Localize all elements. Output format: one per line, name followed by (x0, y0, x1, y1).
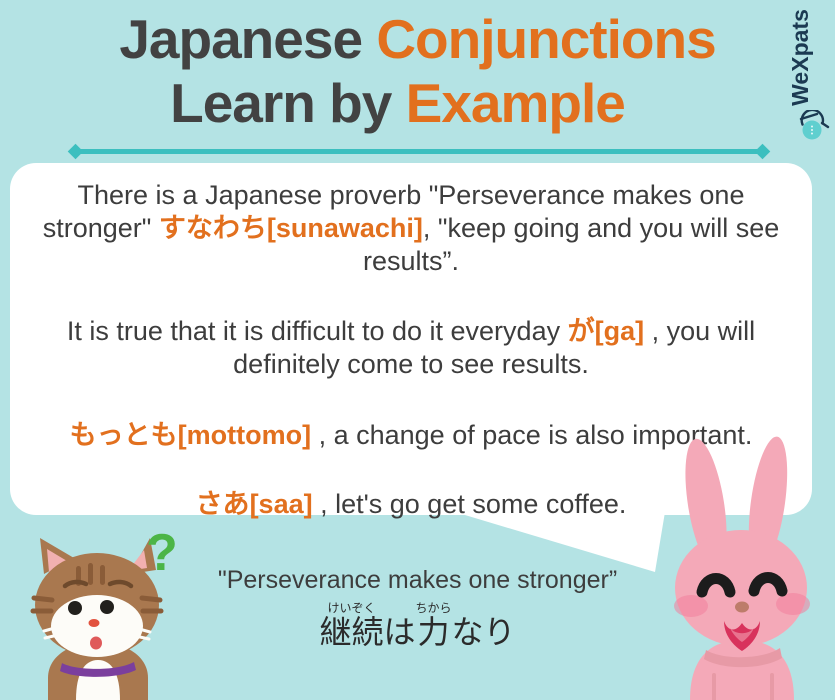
conjunction-ga-romaji: [ga] (595, 316, 645, 346)
header: Japanese Conjunctions Learn by Example W… (0, 0, 835, 160)
furigana-chikara: ちから (416, 601, 452, 615)
title-word-example: Example (406, 72, 625, 134)
kana-wa: は (383, 613, 415, 651)
conjunction-mottomo-romaji: [mottomo] (178, 420, 311, 450)
question-mark-icon: ? (146, 528, 178, 582)
kana-nari: なり (452, 613, 516, 651)
paragraph-1-text-after: , "keep going and you will see results”. (363, 213, 779, 276)
title-word-learn-by: Learn by (170, 72, 406, 134)
conjunction-sunawachi-romaji: [sunawachi] (267, 213, 423, 243)
furigana-keizoku: けいぞく (319, 601, 383, 615)
wexpats-circle-icon (795, 110, 831, 146)
page-title-line-1: Japanese Conjunctions (0, 0, 835, 70)
conjunction-sunawachi-jp: すなわち (159, 213, 267, 243)
wexpats-logo[interactable]: WeXpats (793, 2, 833, 148)
kanji-chikara: 力 (416, 613, 452, 651)
paragraph-2-text-before: It is true that it is difficult to do it… (67, 316, 568, 346)
example-paragraph-1: There is a Japanese proverb "Perseveranc… (24, 179, 798, 278)
logo-wordmark: WeXpats (787, 9, 814, 106)
divider-diamond-right (755, 144, 771, 160)
example-paragraph-2: It is true that it is difficult to do it… (24, 315, 798, 381)
conjunction-saa-jp: さあ (196, 489, 250, 519)
ruby-keizoku: 継続けいぞく (319, 630, 383, 647)
title-word-japanese: Japanese (119, 8, 376, 70)
ruby-chikara: 力ちから (416, 630, 452, 647)
title-divider (68, 143, 770, 159)
page-title-line-2: Learn by Example (0, 70, 835, 134)
divider-bar (76, 149, 762, 154)
conjunction-ga-jp: が (568, 316, 595, 346)
proverb-japanese: 継続けいぞくは力ちからなり (319, 601, 515, 653)
smiling-pink-rabbit (648, 432, 835, 700)
kanji-keizoku: 継続 (319, 613, 383, 651)
title-word-conjunctions: Conjunctions (376, 8, 715, 70)
paragraph-4-text-after: , let's go get some coffee. (313, 489, 627, 519)
surprised-tabby-cat: ? (18, 528, 198, 700)
conjunction-saa-romaji: [saa] (250, 489, 313, 519)
conjunction-mottomo-jp: もっとも (70, 420, 178, 450)
